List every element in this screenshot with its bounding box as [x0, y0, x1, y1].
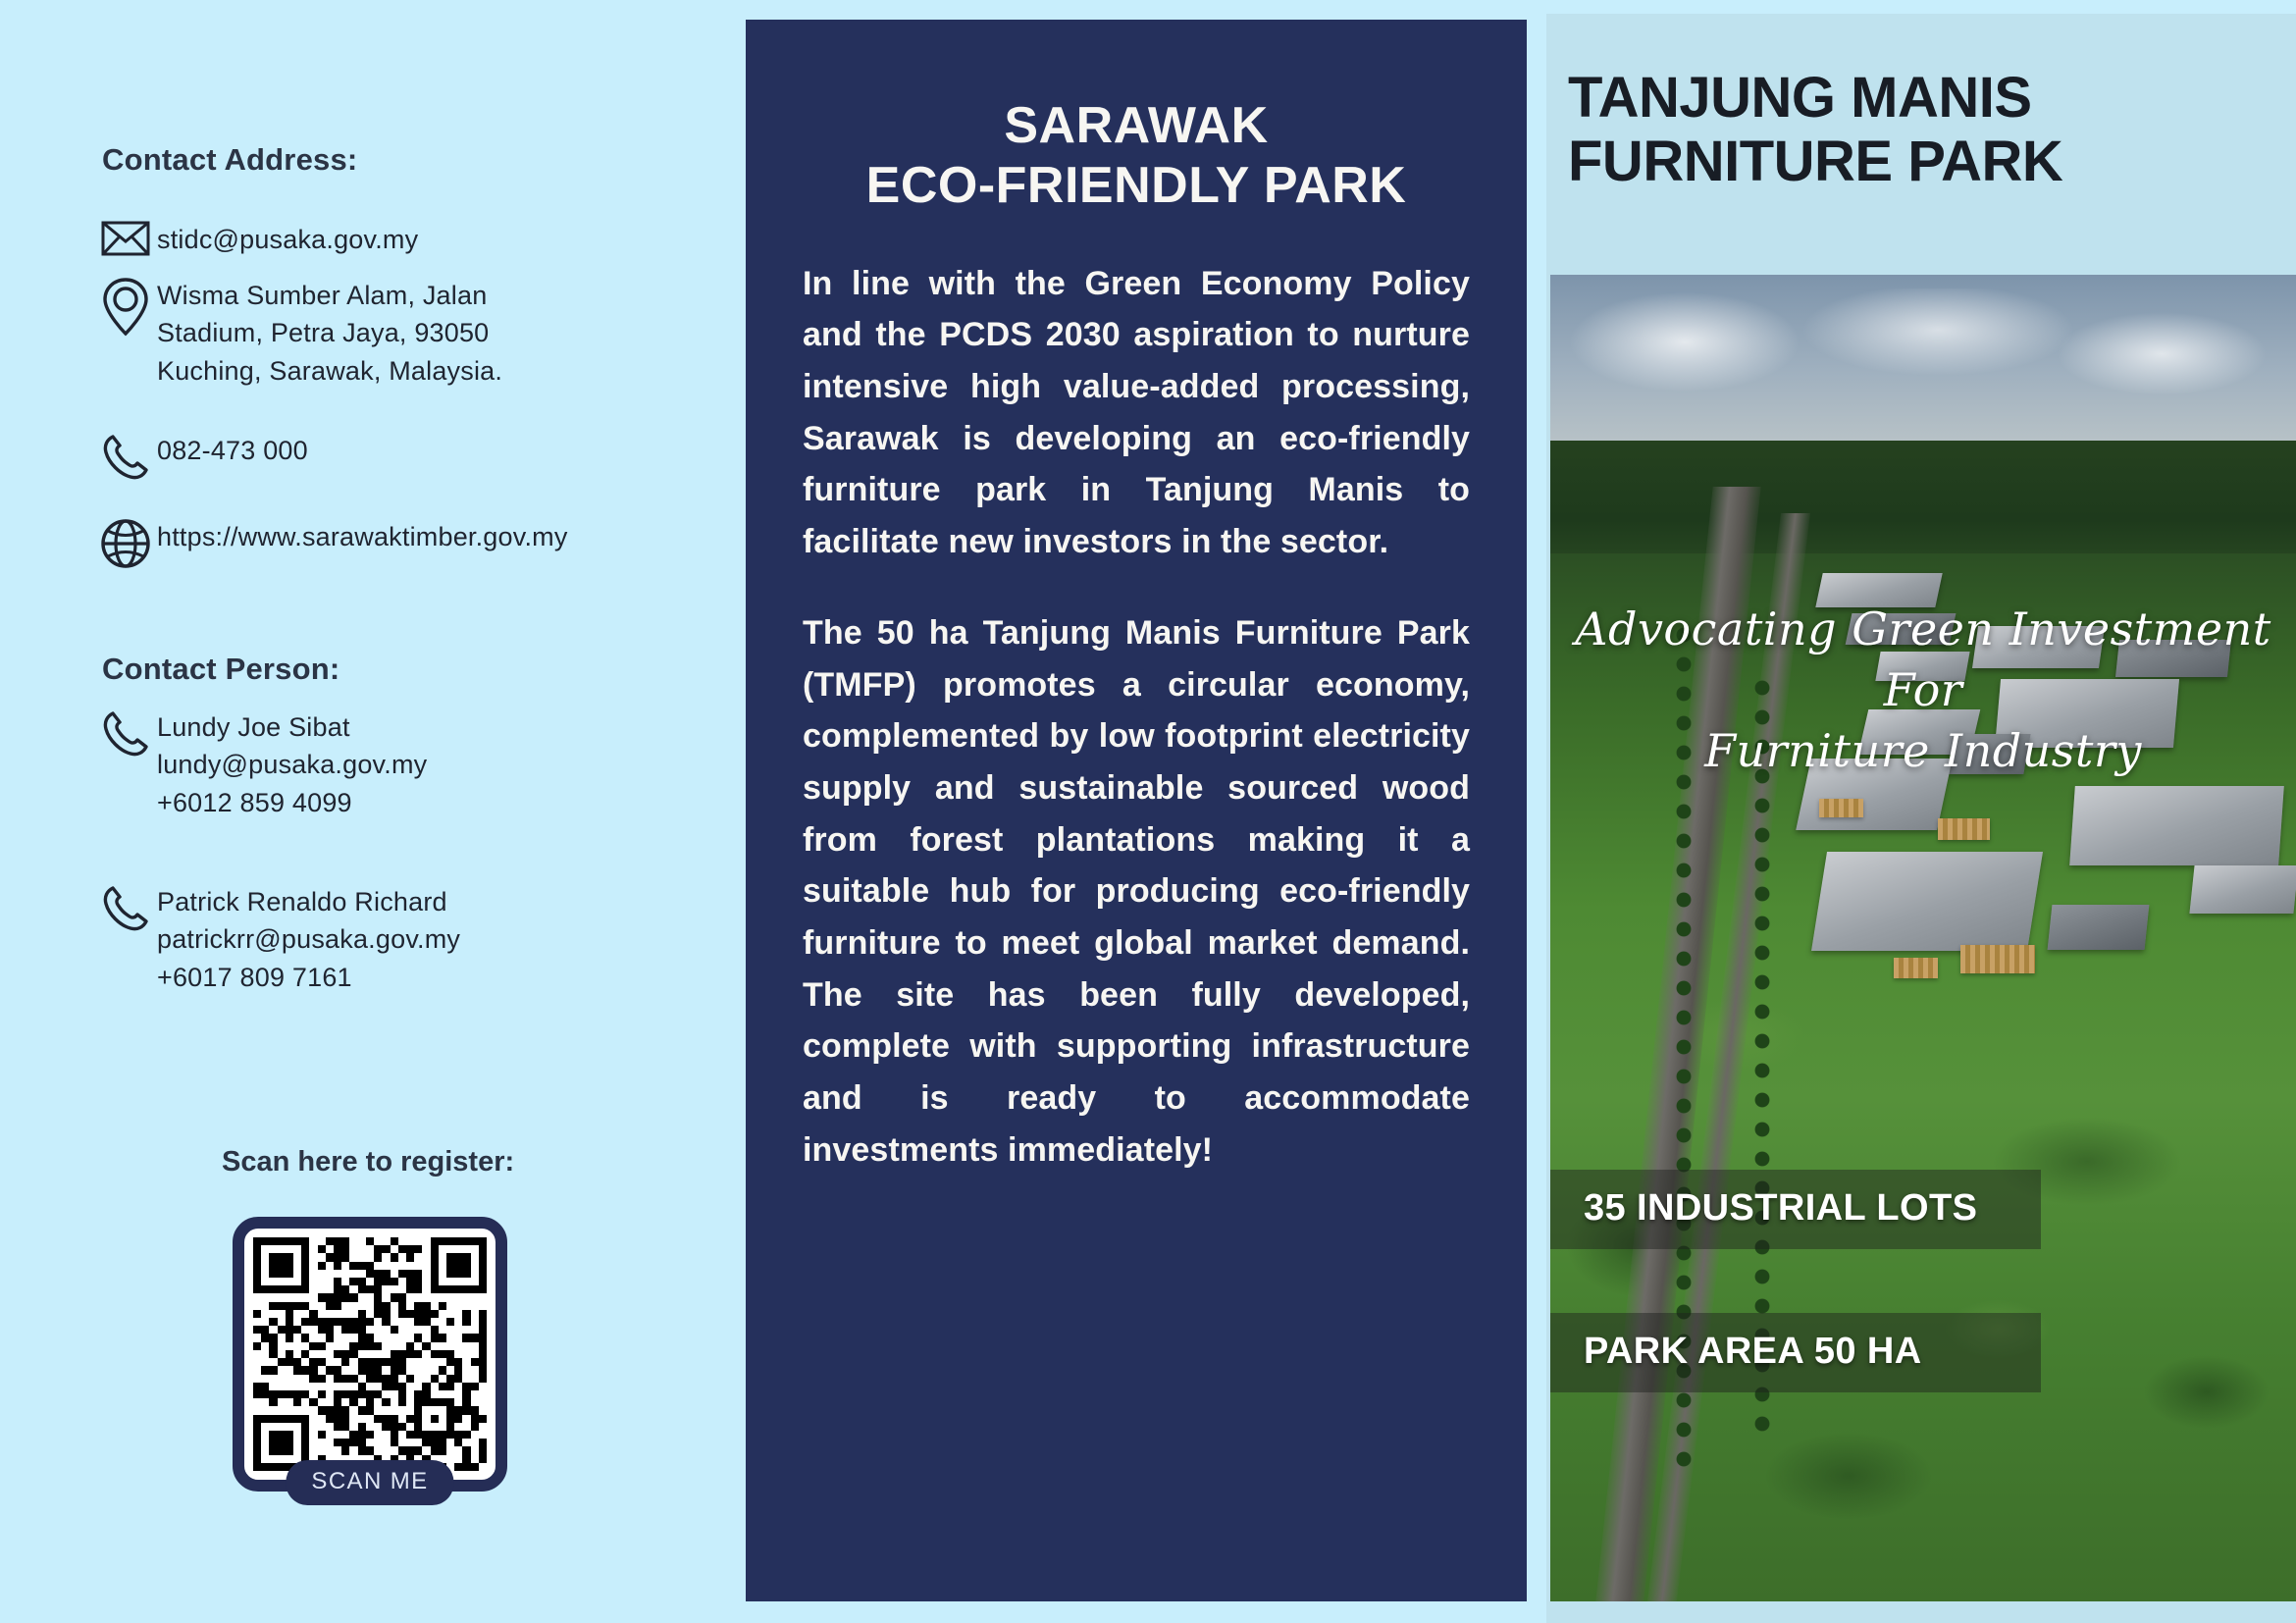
scan-me-badge: SCAN ME: [286, 1460, 453, 1505]
person-phone[interactable]: +6012 859 4099: [157, 784, 427, 821]
center-paragraph-2: The 50 ha Tanjung Manis Furniture Park (…: [803, 607, 1470, 1177]
person-email[interactable]: lundy@pusaka.gov.my: [157, 746, 427, 783]
contact-person-row: Lundy Joe Sibat lundy@pusaka.gov.my +601…: [94, 708, 427, 821]
person-name: Lundy Joe Sibat: [157, 708, 427, 746]
contact-person-row: Patrick Renaldo Richard patrickrr@pusaka…: [94, 883, 460, 996]
factory-roof: [2048, 905, 2150, 950]
contact-person-heading: Contact Person:: [102, 652, 339, 687]
address-line-1: Wisma Sumber Alam, Jalan: [157, 277, 628, 314]
aerial-park-photo: Advocating Green Investment For Furnitur…: [1550, 275, 2296, 1601]
timber-stack: [1894, 958, 1939, 977]
factory-roof: [1811, 852, 2043, 951]
factory-roof: [2069, 786, 2283, 865]
photo-clouds: [1550, 288, 2296, 408]
map-pin-icon: [94, 277, 157, 338]
globe-icon: [94, 518, 157, 569]
timber-stack: [1819, 799, 1864, 817]
center-paragraph-1: In line with the Green Economy Policy an…: [803, 258, 1470, 568]
park-area-badge: PARK AREA 50 HA: [1550, 1313, 2041, 1392]
person-phone[interactable]: +6017 809 7161: [157, 959, 460, 996]
center-title-line-2: ECO-FRIENDLY PARK: [803, 156, 1470, 216]
contact-person-details: Lundy Joe Sibat lundy@pusaka.gov.my +601…: [157, 708, 427, 821]
timber-stack: [1960, 945, 2035, 974]
address-line-3: Kuching, Sarawak, Malaysia.: [157, 352, 628, 390]
address-line-2: Stadium, Petra Jaya, 93050: [157, 314, 628, 351]
center-title: SARAWAK ECO-FRIENDLY PARK: [803, 20, 1470, 217]
phone-icon: [94, 708, 157, 759]
cover-title: TANJUNG MANIS FURNITURE PARK: [1546, 14, 2296, 194]
cover-title-line-1: TANJUNG MANIS: [1568, 66, 2032, 130]
qr-code-matrix: [253, 1237, 487, 1471]
center-title-line-1: SARAWAK: [1004, 97, 1268, 154]
contact-email-value[interactable]: stidc@pusaka.gov.my: [157, 221, 418, 258]
qr-code[interactable]: SCAN ME: [233, 1217, 507, 1492]
contact-address-row: Wisma Sumber Alam, Jalan Stadium, Petra …: [94, 277, 628, 390]
envelope-icon: [94, 221, 157, 256]
contact-website-value[interactable]: https://www.sarawaktimber.gov.my: [157, 518, 568, 555]
contact-address-heading: Contact Address:: [102, 142, 357, 178]
cover-title-line-2: FURNITURE PARK: [1568, 131, 2296, 194]
description-panel: SARAWAK ECO-FRIENDLY PARK In line with t…: [746, 20, 1527, 1601]
tagline-line-1: Advocating Green Investment For: [1550, 599, 2296, 720]
tagline-overlay: Advocating Green Investment For Furnitur…: [1550, 599, 2296, 781]
contact-phone-value[interactable]: 082-473 000: [157, 432, 308, 469]
contact-address-value: Wisma Sumber Alam, Jalan Stadium, Petra …: [157, 277, 628, 390]
timber-stack: [1938, 818, 1990, 840]
factory-roof: [2189, 865, 2296, 914]
contact-phone-row: 082-473 000: [94, 432, 308, 483]
cover-panel: TANJUNG MANIS FURNITURE PARK: [1546, 14, 2296, 1623]
industrial-lots-badge: 35 INDUSTRIAL LOTS: [1550, 1170, 2041, 1249]
contact-email-row: stidc@pusaka.gov.my: [94, 221, 418, 258]
phone-icon: [94, 432, 157, 483]
phone-icon: [94, 883, 157, 934]
tagline-line-2: Furniture Industry: [1550, 720, 2296, 781]
center-body: In line with the Green Economy Policy an…: [803, 258, 1470, 1177]
person-email[interactable]: patrickrr@pusaka.gov.my: [157, 920, 460, 958]
person-name: Patrick Renaldo Richard: [157, 883, 460, 920]
contact-website-row: https://www.sarawaktimber.gov.my: [94, 518, 568, 569]
scan-here-heading: Scan here to register:: [222, 1146, 514, 1178]
contact-panel: Contact Address: stidc@pusaka.gov.my: [0, 0, 746, 1623]
brochure-page: Contact Address: stidc@pusaka.gov.my: [0, 0, 2296, 1623]
contact-person-details: Patrick Renaldo Richard patrickrr@pusaka…: [157, 883, 460, 996]
